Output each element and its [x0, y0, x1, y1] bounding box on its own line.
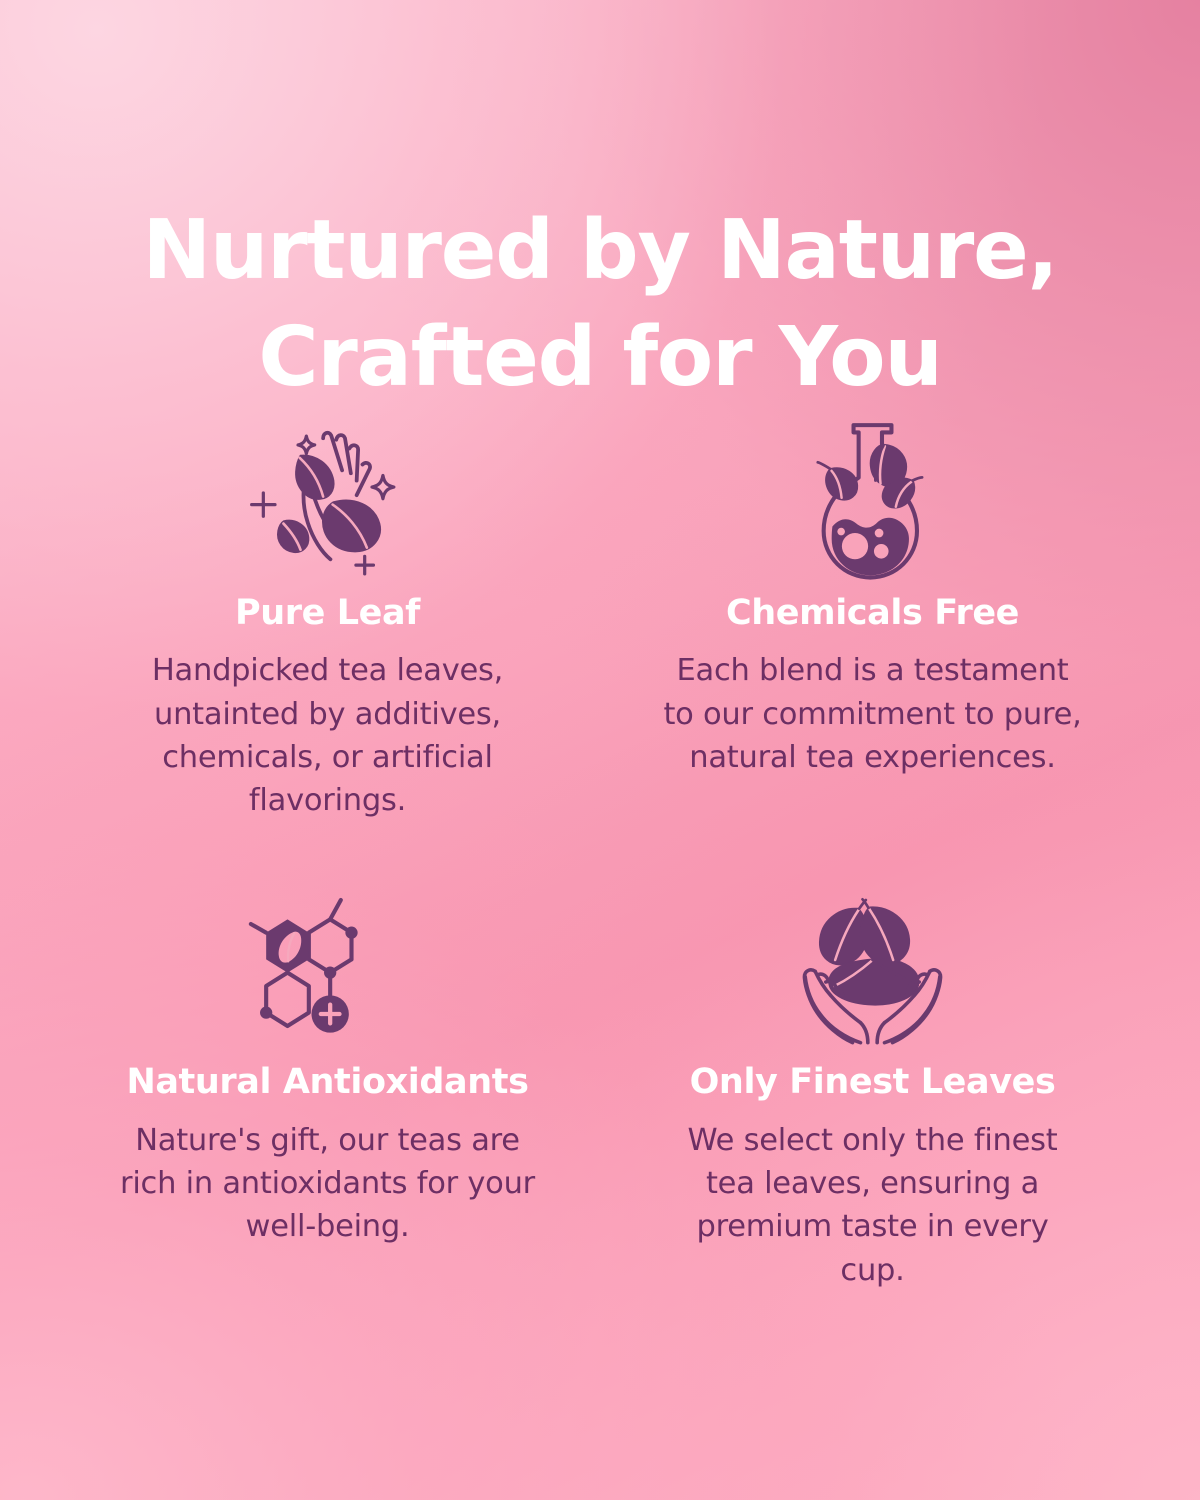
- feature-body: Nature's gift, our teas are rich in anti…: [118, 1119, 538, 1249]
- feature-body: Each blend is a testament to our commitm…: [663, 649, 1083, 779]
- page-title-line-2: Crafted for You: [60, 305, 1140, 412]
- flask-with-leaves-icon: [785, 412, 960, 587]
- feature-card-pure-leaf: Pure Leaf Handpicked tea leaves, untaint…: [60, 412, 595, 822]
- feature-card-chemicals-free: Chemicals Free Each blend is a testament…: [605, 412, 1140, 822]
- feature-title: Only Finest Leaves: [690, 1062, 1056, 1102]
- hands-cupping-leaves-icon: [785, 890, 960, 1050]
- feature-title: Natural Antioxidants: [126, 1062, 528, 1102]
- page-title: Nurtured by Nature, Crafted for You: [0, 198, 1200, 411]
- feature-body: We select only the finest tea leaves, en…: [663, 1119, 1083, 1292]
- molecule-leaf-plus-icon: [240, 890, 415, 1050]
- feature-title: Pure Leaf: [235, 593, 420, 633]
- feature-card-only-finest-leaves: Only Finest Leaves We select only the fi…: [605, 890, 1140, 1291]
- page-title-line-1: Nurtured by Nature,: [60, 198, 1140, 305]
- hand-holding-leaves-sparkle-icon: [240, 412, 415, 587]
- feature-body: Handpicked tea leaves, untainted by addi…: [118, 649, 538, 822]
- feature-card-natural-antioxidants: Natural Antioxidants Nature's gift, our …: [60, 890, 595, 1291]
- feature-grid: Pure Leaf Handpicked tea leaves, untaint…: [60, 412, 1140, 1292]
- feature-title: Chemicals Free: [726, 593, 1019, 633]
- promo-poster: Nurtured by Nature, Crafted for You: [0, 0, 1200, 1500]
